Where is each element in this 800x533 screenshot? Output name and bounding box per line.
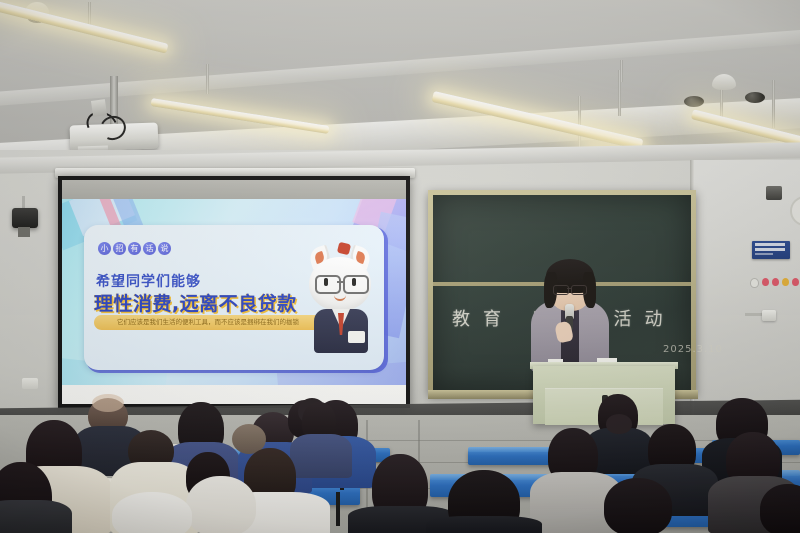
slide-subtitle-pill: 它们应该是我们生活的便利工具，而不应该是捆绑在我们的枷锁 <box>94 315 322 330</box>
projector-bracket <box>91 99 107 117</box>
slide-badge: 小招有话说 <box>98 241 171 256</box>
slide-badge-char-1: 招 <box>113 242 126 255</box>
desk-leg <box>336 492 340 526</box>
wall-speaker <box>766 186 782 200</box>
light-rod <box>772 80 775 128</box>
cat-name-badge <box>348 331 365 343</box>
cat-eye-right <box>352 278 356 286</box>
presenter-glasses-left <box>553 285 569 295</box>
light-rod <box>206 64 209 94</box>
ceiling-fan-hub <box>745 92 765 103</box>
slide-headline-primary: 希望同学们能够 <box>96 271 201 291</box>
ceiling-fan-hub <box>684 96 704 107</box>
cat-mascot <box>304 245 378 353</box>
cat-glasses-right <box>343 275 369 294</box>
wall-camera-base <box>18 227 30 237</box>
wall-info-sign[interactable] <box>752 241 790 259</box>
slide-badge-char-3: 话 <box>143 242 156 255</box>
presenter-glasses-right <box>571 285 587 295</box>
slide-badge-char-2: 有 <box>128 242 141 255</box>
fan-rod <box>620 60 623 82</box>
cat-head-bow <box>337 242 351 256</box>
wall-outlet[interactable] <box>22 378 38 389</box>
presentation-slide: 小招有话说 希望同学们能够 理性消费,远离不良贷款 它们应该是我们生活的便利工具… <box>62 199 406 385</box>
presenter-glasses-bridge <box>567 288 571 289</box>
blackboard-date: 2025.3.10 <box>663 344 723 355</box>
slide-headline-secondary: 理性消费,远离不良贷款 <box>94 289 297 316</box>
cat-glasses-bridge <box>337 281 343 283</box>
slide-badge-char-0: 小 <box>98 242 111 255</box>
cat-eye-left <box>324 278 328 286</box>
wall-stickers <box>750 278 800 288</box>
classroom-photo: 小招有话说 希望同学们能够 理性消费,远离不良贷款 它们应该是我们生活的便利工具… <box>0 0 800 533</box>
wall-camera <box>12 208 38 228</box>
light-switch[interactable] <box>762 310 776 321</box>
slide-badge-char-4: 说 <box>158 242 171 255</box>
fan-shade <box>712 74 736 90</box>
